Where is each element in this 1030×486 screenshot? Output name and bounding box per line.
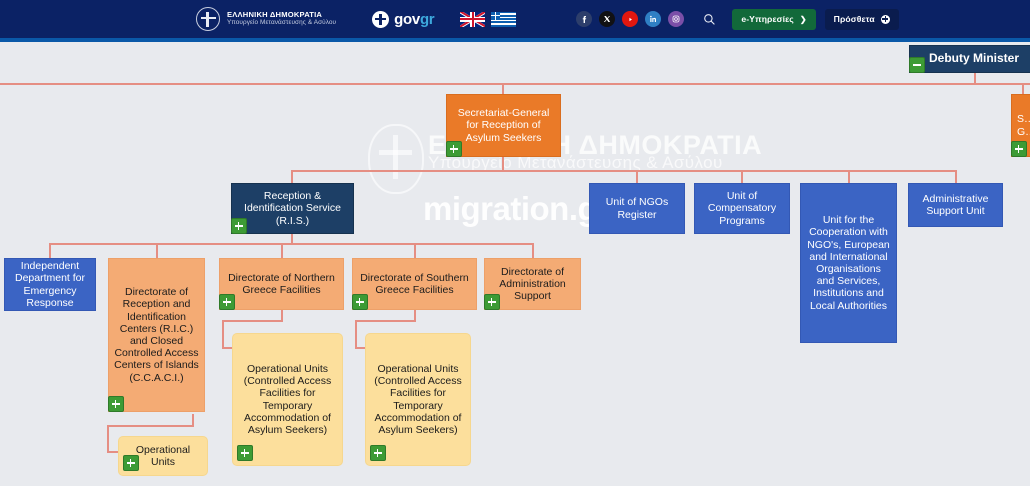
node-unit-ngos-register[interactable]: Unit of NGOs Register xyxy=(589,183,685,234)
chevron-right-icon: ❯ xyxy=(800,15,807,24)
edge-secretariat-down xyxy=(502,157,504,171)
expand-badge-ris[interactable] xyxy=(231,218,247,234)
node-unit-compensatory-programs[interactable]: Unit of Compensatory Programs xyxy=(694,183,790,234)
node-dir-ric-ccaci-label: Directorate of Reception and Identificat… xyxy=(114,286,199,383)
edge-level2-bus xyxy=(291,170,956,172)
plus-circle-icon xyxy=(881,15,890,24)
node-operational-units-north[interactable]: Operational Units (Controlled Access Fac… xyxy=(232,333,343,466)
node-secretariat-right-clipped[interactable]: S… G… xyxy=(1011,94,1030,157)
node-administrative-support-unit-label: Administrative Support Unit xyxy=(914,193,997,217)
node-administrative-support-unit[interactable]: Administrative Support Unit xyxy=(908,183,1003,227)
instagram-icon[interactable] xyxy=(668,11,684,27)
edge-to-admin-support-unit xyxy=(955,170,957,183)
extras-button[interactable]: Πρόσθετα xyxy=(825,9,899,30)
site-header: ΕΛΛΗΝΙΚΗ ΔΗΜΟΚΡΑΤΙΑ Υπουργείο Μετανάστευ… xyxy=(0,0,1030,38)
node-ris[interactable]: Reception & Identification Service (R.I.… xyxy=(231,183,354,234)
site-brand[interactable]: ΕΛΛΗΝΙΚΗ ΔΗΜΟΚΡΑΤΙΑ Υπουργείο Μετανάστευ… xyxy=(196,7,336,31)
govgr-prefix: gov xyxy=(394,11,420,28)
node-deputy-minister-label: Debuty Minister xyxy=(929,52,1019,66)
node-dir-southern-greece-label: Directorate of Southern Greece Facilitie… xyxy=(358,272,471,296)
facebook-icon[interactable] xyxy=(576,11,592,27)
extras-label: Πρόσθετα xyxy=(834,14,875,24)
edge-to-secretariat-general xyxy=(502,83,504,94)
node-operational-units-south-label: Operational Units (Controlled Access Fac… xyxy=(371,363,465,436)
search-icon[interactable] xyxy=(700,10,718,28)
collapse-badge-deputy-minister[interactable] xyxy=(909,57,925,73)
govgr-mark-icon xyxy=(372,11,389,28)
node-unit-cooperation-label: Unit for the Cooperation with NGO's, Eur… xyxy=(806,214,891,311)
expand-badge-dir-ric-ccaci[interactable] xyxy=(108,396,124,412)
edge-ric-elbow-h xyxy=(107,425,194,427)
edge-south-elbow-h xyxy=(355,320,416,322)
expand-badge-operational-units-north[interactable] xyxy=(237,445,253,461)
node-dir-northern-greece[interactable]: Directorate of Northern Greece Facilitie… xyxy=(219,258,344,310)
edge-ric-elbow-v xyxy=(107,425,109,452)
node-independent-emergency-response-label: Independent Department for Emergency Res… xyxy=(10,260,90,309)
node-unit-cooperation[interactable]: Unit for the Cooperation with NGO's, Eur… xyxy=(800,183,897,343)
edge-to-dir-admin xyxy=(532,243,534,258)
expand-badge-secretariat-general[interactable] xyxy=(446,141,462,157)
edge-south-elbow-v xyxy=(355,320,357,348)
linkedin-icon[interactable] xyxy=(645,11,661,27)
node-dir-ric-ccaci[interactable]: Directorate of Reception and Identificat… xyxy=(108,258,205,412)
node-operational-units-north-label: Operational Units (Controlled Access Fac… xyxy=(238,363,337,436)
expand-badge-dir-southern-greece[interactable] xyxy=(352,294,368,310)
greek-coat-of-arms-icon xyxy=(196,7,220,31)
node-unit-compensatory-programs-label: Unit of Compensatory Programs xyxy=(700,190,784,227)
govgr-suffix: gr xyxy=(420,11,434,28)
node-secretariat-general[interactable]: Secretariat-General for Reception of Asy… xyxy=(446,94,561,157)
edge-north-into-op xyxy=(222,347,232,349)
edge-north-elbow-v xyxy=(222,320,224,348)
node-secretariat-general-label: Secretariat-General for Reception of Asy… xyxy=(452,107,555,144)
edge-south-into-op xyxy=(355,347,365,349)
eservices-label: e-Υπηρεσίες xyxy=(741,14,794,24)
expand-badge-dir-northern-greece[interactable] xyxy=(219,294,235,310)
eservices-button[interactable]: e-Υπηρεσίες ❯ xyxy=(732,9,815,30)
node-dir-southern-greece[interactable]: Directorate of Southern Greece Facilitie… xyxy=(352,258,477,310)
edge-to-independent-emergency xyxy=(49,243,51,258)
node-dir-administration-support[interactable]: Directorate of Administration Support xyxy=(484,258,581,310)
node-dir-administration-support-label: Directorate of Administration Support xyxy=(490,266,575,303)
edge-to-dir-ric xyxy=(156,243,158,258)
expand-badge-secretariat-right[interactable] xyxy=(1011,141,1027,157)
expand-badge-dir-administration-support[interactable] xyxy=(484,294,500,310)
x-twitter-icon[interactable] xyxy=(599,11,615,27)
edge-to-unit-ngos xyxy=(636,170,638,183)
edge-level3-bus xyxy=(49,243,533,245)
node-operational-units[interactable]: Operational Units xyxy=(118,436,208,476)
youtube-icon[interactable] xyxy=(622,11,638,27)
node-ris-label: Reception & Identification Service (R.I.… xyxy=(237,190,348,227)
expand-badge-operational-units[interactable] xyxy=(123,455,139,471)
govgr-wordmark: govgr xyxy=(394,11,434,28)
flag-uk-icon[interactable] xyxy=(460,12,485,27)
node-secretariat-right-label: S… G… xyxy=(1017,113,1030,137)
edge-ric-into-op xyxy=(107,451,118,453)
edge-to-unit-cooperation xyxy=(848,170,850,183)
edge-level1-bus xyxy=(0,83,1030,85)
edge-north-elbow-h xyxy=(222,320,283,322)
node-unit-ngos-register-label: Unit of NGOs Register xyxy=(595,196,679,220)
node-deputy-minister[interactable]: Debuty Minister xyxy=(909,45,1030,73)
govgr-logo[interactable]: govgr xyxy=(372,11,434,28)
greek-coat-of-arms-watermark-icon xyxy=(368,124,424,194)
social-links[interactable] xyxy=(576,11,684,27)
edge-to-unit-compensatory xyxy=(741,170,743,183)
header-accent-rule xyxy=(0,38,1030,42)
language-switcher[interactable] xyxy=(460,12,516,27)
edge-to-dir-southern xyxy=(414,243,416,258)
brand-line-2: Υπουργείο Μετανάστευσης & Ασύλου xyxy=(227,20,336,27)
expand-badge-operational-units-south[interactable] xyxy=(370,445,386,461)
brand-line-1: ΕΛΛΗΝΙΚΗ ΔΗΜΟΚΡΑΤΙΑ xyxy=(227,11,336,19)
edge-to-ris xyxy=(291,170,293,183)
node-independent-emergency-response[interactable]: Independent Department for Emergency Res… xyxy=(4,258,96,311)
edge-to-secretariat-right xyxy=(1022,83,1024,94)
node-operational-units-south[interactable]: Operational Units (Controlled Access Fac… xyxy=(365,333,471,466)
node-dir-northern-greece-label: Directorate of Northern Greece Facilitie… xyxy=(225,272,338,296)
flag-gr-icon[interactable] xyxy=(491,12,516,27)
edge-to-dir-northern xyxy=(281,243,283,258)
